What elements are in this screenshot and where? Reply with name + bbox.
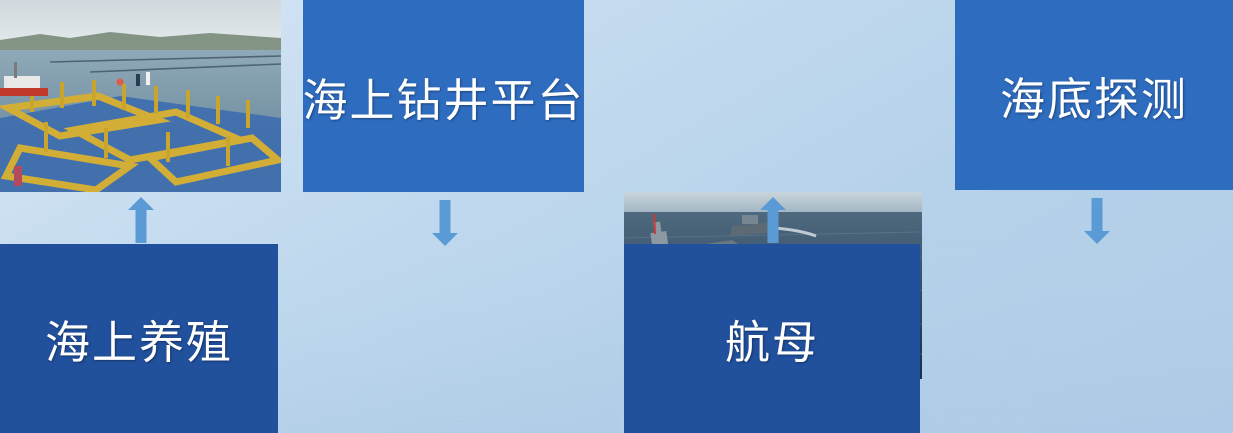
- slide-canvas: 海上钻井平台: [0, 0, 1233, 433]
- tile-offshore-drilling-platform[interactable]: 海上钻井平台: [303, 0, 584, 192]
- tile-label-marine-aquaculture: 海上养殖: [45, 306, 233, 371]
- arrow-up-icon: [760, 197, 786, 243]
- arrow-up-col0: [128, 197, 154, 243]
- arrow-down-col1: [432, 200, 458, 246]
- arrow-down-icon: [432, 200, 458, 246]
- tile-label-offshore-drilling-platform: 海上钻井平台: [303, 64, 584, 129]
- offshore-aquaculture-pens-photo: [0, 0, 281, 192]
- tile-marine-aquaculture[interactable]: 海上养殖: [0, 244, 278, 433]
- tile-label-seabed-exploration: 海底探测: [1000, 63, 1188, 128]
- tile-label-aircraft-carrier: 航母: [725, 306, 819, 371]
- tile-seabed-exploration[interactable]: 海底探测: [955, 0, 1233, 190]
- arrow-up-col2: [760, 197, 786, 243]
- arrow-down-icon: [1084, 198, 1110, 244]
- arrow-up-icon: [128, 197, 154, 243]
- arrow-down-col3: [1084, 198, 1110, 244]
- tile-aircraft-carrier[interactable]: 航母: [624, 244, 920, 433]
